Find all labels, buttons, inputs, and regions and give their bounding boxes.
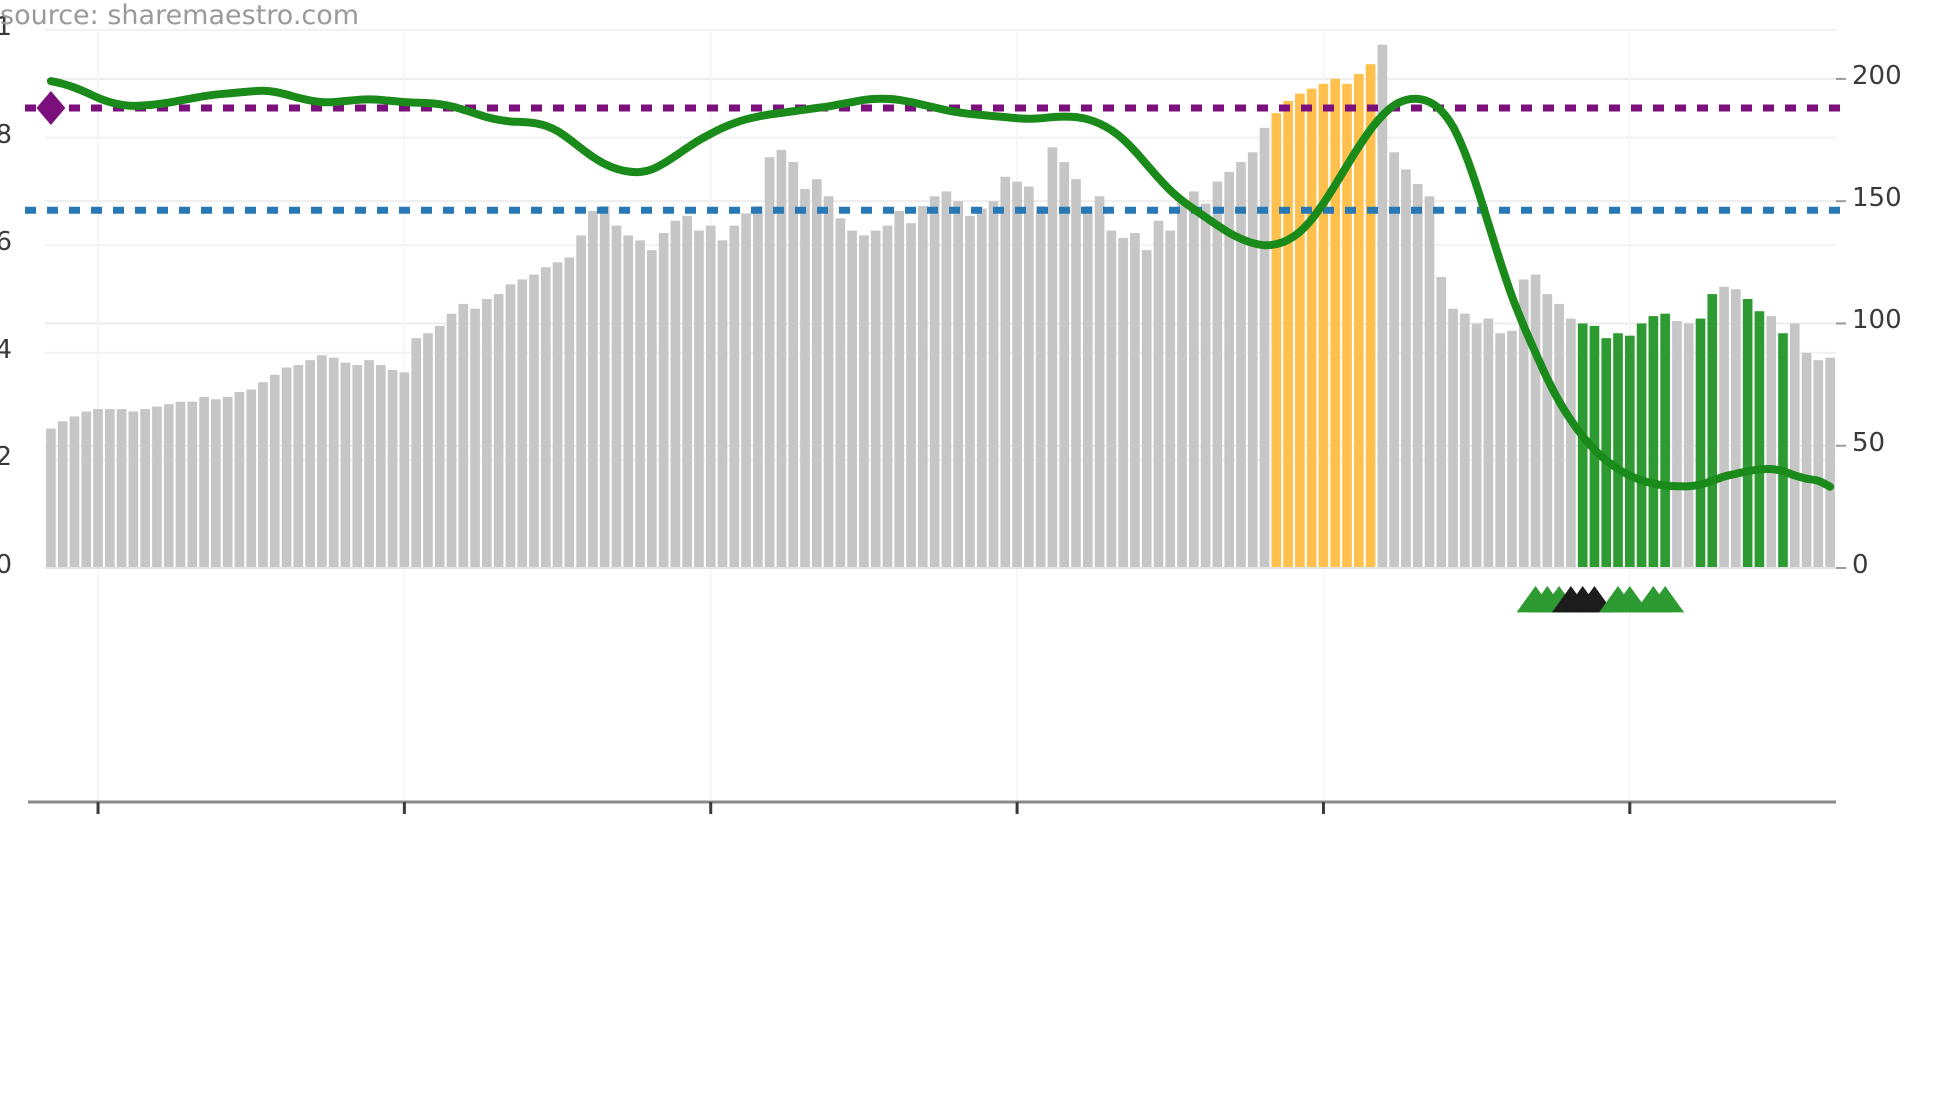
price-bar [1142,250,1152,568]
price-bar [588,211,598,568]
price-bar [682,216,692,568]
price-bar [164,404,174,568]
price-bar [1755,311,1765,568]
y-axis-right-label: 150 [1852,183,1942,213]
price-bar [765,157,775,568]
price-bar [1660,314,1670,568]
price-bar [824,196,834,568]
price-bar [1743,299,1753,568]
price-bar [671,221,681,568]
price-bar [753,206,763,568]
price-bar [871,231,881,568]
y-axis-right-label: 100 [1852,305,1942,335]
price-bar [1071,179,1081,568]
price-bar [942,191,952,568]
y-axis-left-label: 0.6 [0,227,12,257]
price-bar [223,397,233,568]
price-bar [258,382,268,568]
price-bar [647,250,657,568]
price-bar [1401,169,1411,568]
price-bar [694,231,704,568]
price-bar [600,206,610,568]
price-bar [1271,113,1281,568]
price-bar [1707,294,1717,568]
price-bar [812,179,822,568]
price-bar [1389,152,1399,568]
price-bar [152,407,162,568]
price-bar [376,365,386,568]
price-bar [788,162,798,568]
price-bar [612,226,622,568]
price-bar [659,233,669,568]
price-bar [718,240,728,568]
y-axis-right-label: 0 [1852,550,1942,580]
source-watermark: source: sharemaestro.com [0,0,359,31]
price-bar [918,206,928,568]
price-bar [517,279,527,568]
price-bar [553,262,563,568]
price-bar [1260,128,1270,568]
price-bar [129,411,139,568]
price-bar [1696,319,1706,568]
price-bar [894,211,904,568]
price-bar [1107,231,1117,568]
price-bar [953,201,963,568]
price-bar [506,284,516,568]
price-bar [576,235,586,568]
y-axis-left-label: 0 [0,550,12,580]
price-bar [1059,162,1069,568]
price-bar [1213,182,1223,568]
price-bar [1248,152,1258,568]
price-bar [294,365,304,568]
price-bar [470,309,480,568]
price-bar [1436,277,1446,568]
price-bar [58,421,68,568]
price-bar [883,226,893,568]
price-bar [565,257,575,568]
price-bar [1130,233,1140,568]
price-bar [1802,353,1812,568]
y-axis-left-label: 0.8 [0,120,12,150]
price-bar [1825,358,1835,568]
price-bar [317,355,327,568]
price-bar [1295,94,1305,568]
price-bar [729,226,739,568]
price-bar [1425,196,1435,568]
price-bar [1012,182,1022,568]
price-bar [282,367,292,568]
price-bar [1613,333,1623,568]
price-bar [906,223,916,568]
price-bar [1484,319,1494,568]
price-bar [930,196,940,568]
price-bar [1731,289,1741,568]
price-bar [859,235,869,568]
price-bar [388,370,398,568]
price-bar [1118,238,1128,568]
momentum-price-chart: 10.80.60.40.20200150100500 source: share… [0,0,1960,1102]
price-bar [270,375,280,568]
price-bar [1154,221,1164,568]
price-bar [1684,323,1694,568]
price-bar [1448,309,1458,568]
price-bar [140,409,150,568]
price-bar [1531,275,1541,568]
price-bar [541,267,551,568]
price-bar [447,314,457,568]
price-bar [482,299,492,568]
price-bar [1766,316,1776,568]
price-bar [117,409,127,568]
price-bar [1719,287,1729,568]
price-bar [1024,187,1034,568]
price-bar [411,338,421,568]
price-bar [81,411,91,568]
price-bar [965,216,975,568]
price-bar [1566,319,1576,568]
price-bar [458,304,468,568]
price-bar [847,231,857,568]
price-bar [187,402,197,568]
price-bar [494,294,504,568]
price-bar [341,363,351,568]
price-bar [977,209,987,568]
price-bar [706,226,716,568]
price-bar [1095,196,1105,568]
y-axis-right-label: 200 [1852,61,1942,91]
price-bar [836,218,846,568]
y-axis-right-label: 50 [1852,428,1942,458]
price-bar [1083,206,1093,568]
price-bar [93,409,103,568]
price-bar [1201,204,1211,568]
price-bar [1554,304,1564,568]
price-bar [1330,79,1340,568]
price-bar [1672,321,1682,568]
demand-threshold-marker [36,91,65,125]
price-bar [1307,89,1317,568]
y-axis-left-label: 0.2 [0,442,12,472]
price-bar [1283,101,1293,568]
price-bar [1625,336,1635,568]
price-bar [364,360,374,568]
price-bar [246,389,256,568]
price-bar [305,360,315,568]
price-bar [1048,147,1058,568]
price-bar [1542,294,1552,568]
price-bar [1495,333,1505,568]
price-bar [1189,191,1199,568]
price-bar [70,416,80,568]
price-bar [1413,184,1423,568]
price-bar [176,402,186,568]
price-bar [1472,323,1482,568]
y-axis-left-label: 0.4 [0,335,12,365]
price-bar [235,392,245,568]
price-bar [435,326,445,568]
price-bar [46,429,56,568]
price-bar [1036,206,1046,568]
price-bar [1236,162,1246,568]
price-bar [1000,177,1010,568]
price-bar [1177,199,1187,568]
price-bar [1637,323,1647,568]
price-bar [329,358,339,568]
price-bar [352,365,362,568]
price-bar [105,409,115,568]
price-bar [1778,333,1788,568]
price-bar [1460,314,1470,568]
chart-legend [0,915,1960,1075]
price-bar [1319,84,1329,568]
price-bar [1790,323,1800,568]
price-bar [635,240,645,568]
price-bar [211,399,221,568]
price-bar [800,189,810,568]
price-bar [423,333,433,568]
price-bar [1507,331,1517,568]
price-bar [400,372,410,568]
price-bar [529,275,539,568]
price-bar [741,213,751,568]
price-bar [1165,231,1175,568]
price-bar [623,235,633,568]
price-bar [199,397,209,568]
price-bar [1813,360,1823,568]
price-bar [989,201,999,568]
price-bar [1649,316,1659,568]
